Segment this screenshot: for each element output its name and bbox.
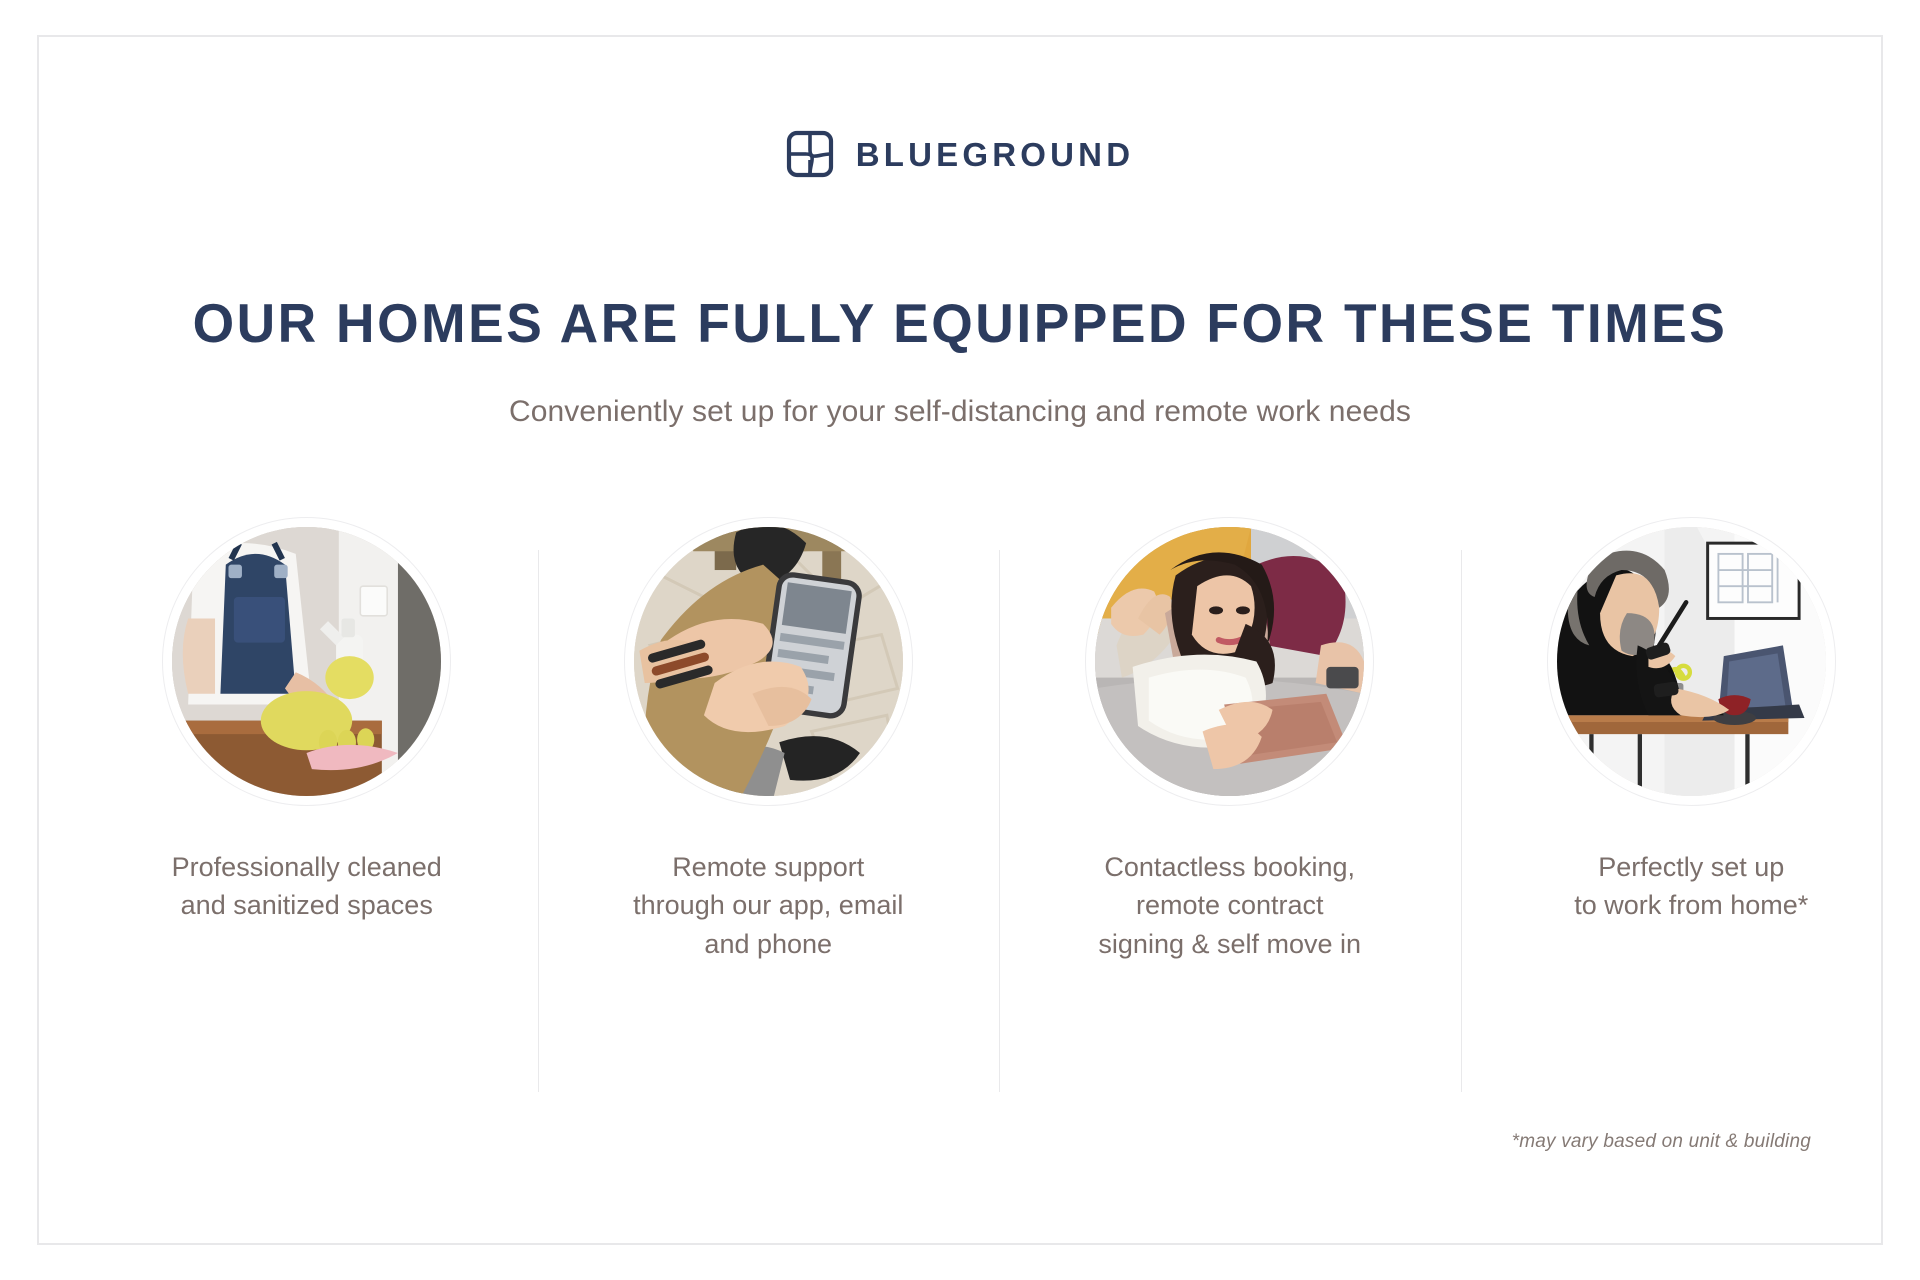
feature-caption: Contactless booking, remote contract sig…: [1098, 848, 1361, 963]
photo-frame: [1085, 517, 1374, 806]
feature-column-work-from-home: Perfectly set up to work from home*: [1461, 517, 1920, 1092]
feature-column-cleaning: Professionally cleaned and sanitized spa…: [76, 517, 538, 1092]
photo-cleaning-professional: [172, 527, 441, 796]
brand-logo: BLUEGROUND: [39, 130, 1881, 178]
feature-column-contactless-booking: Contactless booking, remote contract sig…: [999, 517, 1461, 1092]
poster-page: BLUEGROUND OUR HOMES ARE FULLY EQUIPPED …: [0, 0, 1920, 1280]
poster-card: BLUEGROUND OUR HOMES ARE FULLY EQUIPPED …: [37, 35, 1883, 1245]
page-title: OUR HOMES ARE FULLY EQUIPPED FOR THESE T…: [67, 295, 1854, 353]
photo-tablet-booking: [1095, 527, 1364, 796]
page-subtitle: Conveniently set up for your self-distan…: [39, 392, 1881, 431]
photo-smartphone-app: [634, 527, 903, 796]
feature-column-remote-support: Remote support through our app, email an…: [538, 517, 1000, 1092]
photo-frame: [1547, 517, 1836, 806]
feature-columns: Professionally cleaned and sanitized spa…: [76, 517, 1920, 1092]
feature-caption: Professionally cleaned and sanitized spa…: [172, 848, 442, 925]
photo-frame: [624, 517, 913, 806]
blueground-square-logo-icon: [786, 130, 834, 178]
feature-caption: Perfectly set up to work from home*: [1574, 848, 1808, 925]
photo-frame: [162, 517, 451, 806]
feature-caption: Remote support through our app, email an…: [633, 848, 903, 963]
photo-work-from-home: [1557, 527, 1826, 796]
footnote-disclaimer: *may vary based on unit & building: [1512, 1131, 1811, 1153]
brand-wordmark: BLUEGROUND: [856, 138, 1135, 171]
